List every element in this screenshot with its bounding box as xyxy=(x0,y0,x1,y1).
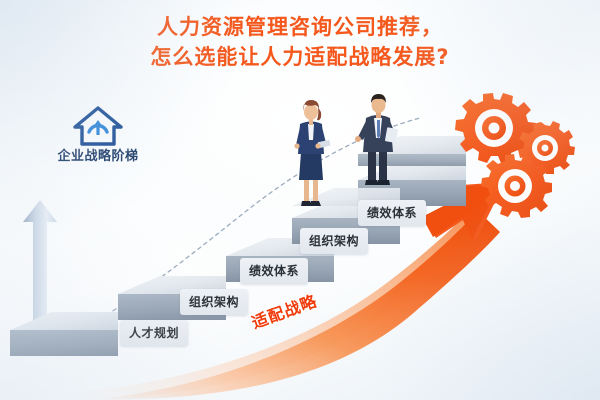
figure-businesswoman xyxy=(294,100,330,206)
step-label-2: 组织架构 xyxy=(180,289,248,315)
step-label-1: 人才规划 xyxy=(120,320,188,346)
title-line-1: 人力资源管理咨询公司推荐， xyxy=(0,12,600,42)
ladder-caption: 企业战略阶梯 xyxy=(36,145,160,164)
figure-businessman xyxy=(355,94,398,185)
step-label-4: 组织架构 xyxy=(300,228,368,254)
poster-title: 人力资源管理咨询公司推荐， 怎么选能让人力适配战略发展? xyxy=(0,12,600,72)
step-label-3: 绩效体系 xyxy=(240,258,308,284)
poster-canvas: 人力资源管理咨询公司推荐， 怎么选能让人力适配战略发展? 企业战略阶梯 人才规划… xyxy=(0,0,600,400)
house-up-arrow-icon xyxy=(70,104,126,148)
gear-cluster xyxy=(455,93,575,218)
step-label-5: 绩效体系 xyxy=(358,200,426,226)
title-line-2: 怎么选能让人力适配战略发展? xyxy=(0,42,600,72)
